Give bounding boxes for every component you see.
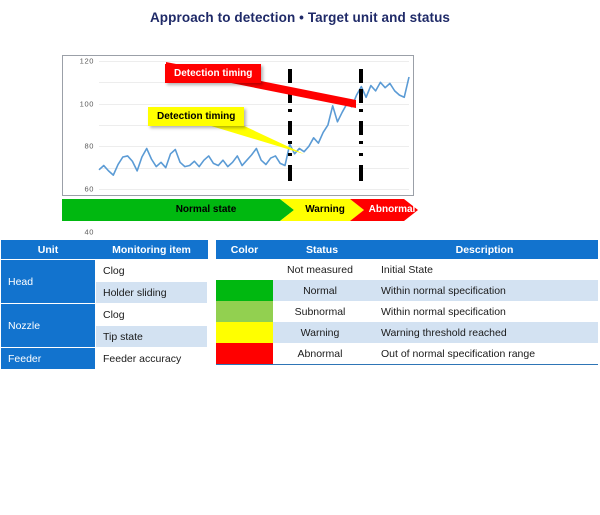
color-swatch [216,322,273,343]
status-table-header-description: Description [371,240,598,259]
unit-table-header-monitoring-item: Monitoring item [96,240,208,260]
table-row: AbnormalOut of normal specification rang… [216,343,598,365]
y-axis-tick-label: 120 [80,57,94,66]
monitoring-item-cell: Holder sliding [96,282,208,304]
status-name-cell: Not measured [273,259,371,280]
status-label-abnormal: Abnormal [357,199,427,221]
y-axis-tick-label: 100 [80,99,94,108]
status-name-cell: Abnormal [273,343,371,365]
status-name-cell: Subnormal [273,301,371,322]
y-axis-tick-label: 80 [84,142,94,151]
monitoring-item-cell: Clog [96,260,208,282]
status-color-cell [216,259,273,280]
table-row: HeadClog [1,260,208,282]
page-title: Approach to detection • Target unit and … [0,10,600,25]
status-table-header-color: Color [216,240,273,259]
status-legend-table: Color Status Description Not measuredIni… [216,240,598,365]
table-row: FeederFeeder accuracy [1,348,208,370]
table-row: NozzleClog [1,304,208,326]
unit-monitoring-table: Unit Monitoring item HeadClogHolder slid… [0,240,208,370]
callout-detection-timing-yellow: Detection timing [148,107,244,126]
unit-table-header-unit: Unit [1,240,96,260]
unit-cell-nozzle: Nozzle [1,304,96,348]
monitoring-item-cell: Clog [96,304,208,326]
callout-detection-timing-red: Detection timing [165,64,261,83]
status-arrow-bar: Normal state Warning Abnormal [62,199,418,221]
table-row: Not measuredInitial State [216,259,598,280]
status-color-cell [216,322,273,343]
status-name-cell: Normal [273,280,371,301]
gridline: 0 [99,189,409,190]
status-description-cell: Within normal specification [371,301,598,322]
status-color-cell [216,301,273,322]
table-row: SubnormalWithin normal specification [216,301,598,322]
status-description-cell: Within normal specification [371,280,598,301]
monitoring-item-cell: Tip state [96,326,208,348]
unit-cell-feeder: Feeder [1,348,96,370]
status-description-cell: Warning threshold reached [371,322,598,343]
status-label-normal: Normal state [146,199,266,221]
table-row: WarningWarning threshold reached [216,322,598,343]
status-description-cell: Out of normal specification range [371,343,598,365]
status-color-cell [216,280,273,301]
color-swatch [216,280,273,301]
status-table-header-status: Status [273,240,371,259]
status-name-cell: Warning [273,322,371,343]
table-row: NormalWithin normal specification [216,280,598,301]
status-description-cell: Initial State [371,259,598,280]
status-color-cell [216,343,273,365]
y-axis-tick-label: 60 [84,185,94,194]
status-label-warning: Warning [295,199,355,221]
y-axis-tick-label: 40 [84,227,94,236]
monitoring-item-cell: Feeder accuracy [96,348,208,370]
color-swatch [216,301,273,322]
color-swatch [216,343,273,364]
unit-cell-head: Head [1,260,96,304]
table-header-row: Color Status Description [216,240,598,259]
table-header-row: Unit Monitoring item [1,240,208,260]
